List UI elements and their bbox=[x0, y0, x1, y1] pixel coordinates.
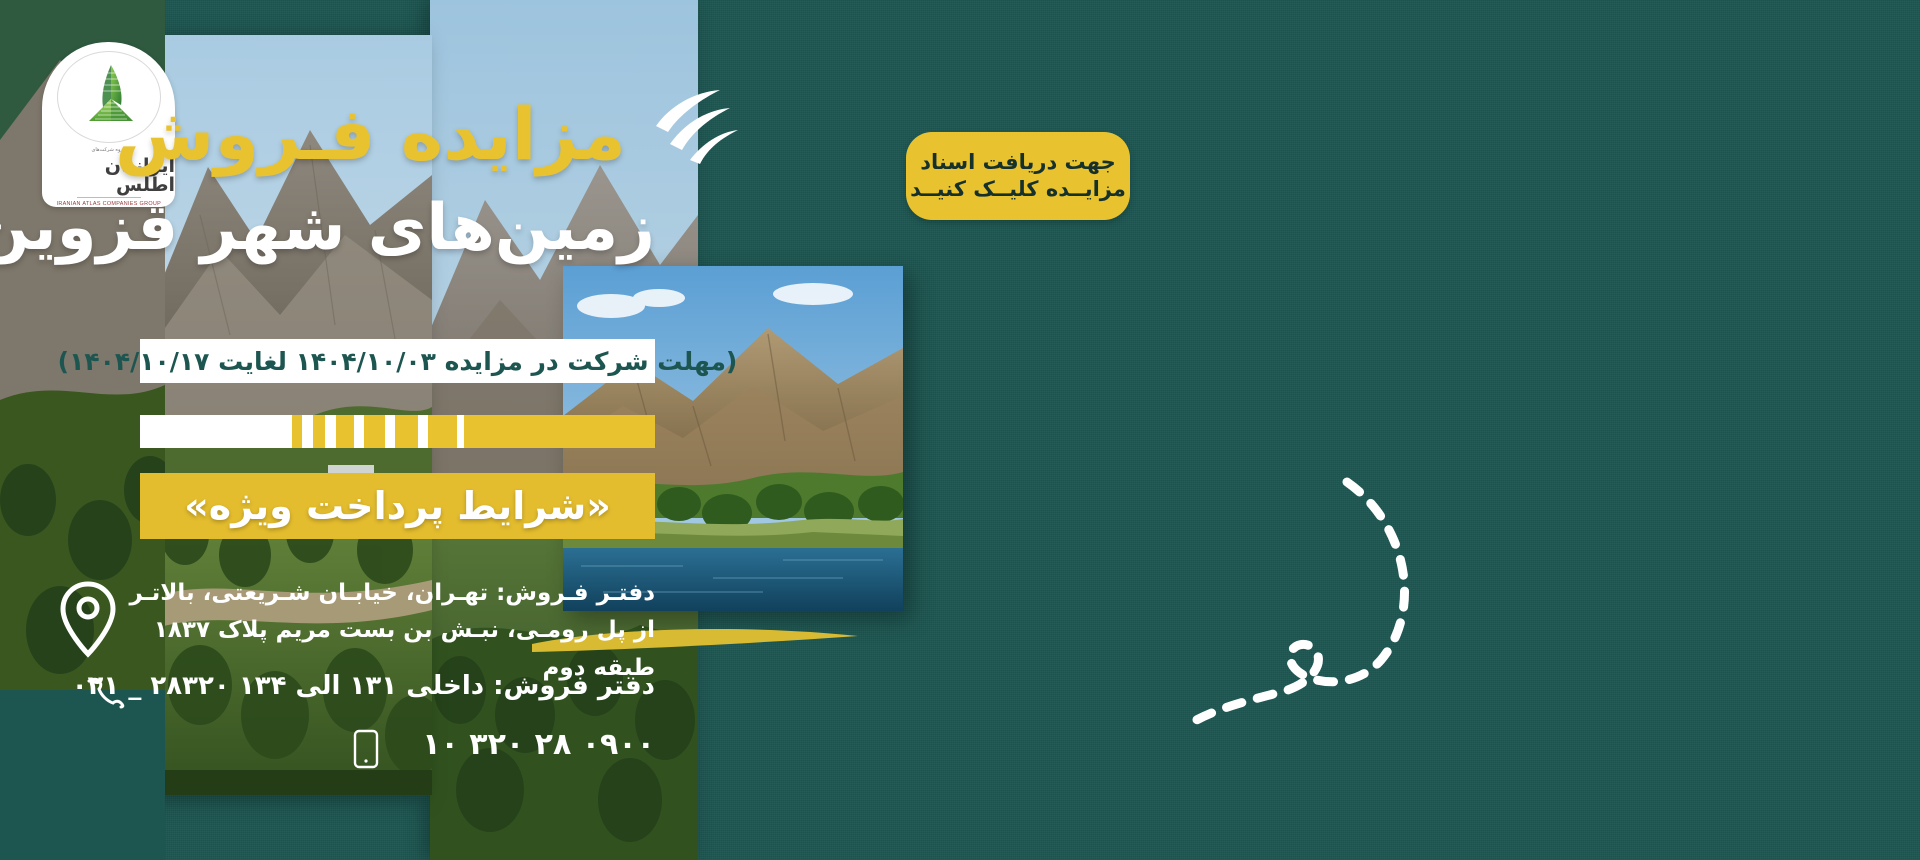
special-payment-terms-button[interactable]: «شرایط پرداخت ویژه» bbox=[140, 473, 655, 539]
progress-segment-1 bbox=[428, 415, 456, 448]
progress-segment-2 bbox=[395, 415, 418, 448]
auction-deadline-strip: (مهلت شرکت در مزایده ۱۴۰۴/۱۰/۰۳ لغایت ۱۴… bbox=[140, 339, 655, 383]
progress-segment-3 bbox=[364, 415, 385, 448]
swoosh-accent-icon bbox=[650, 78, 740, 168]
headline-secondary: زمین‌های شهر قزوین bbox=[115, 196, 655, 260]
location-pin-icon bbox=[57, 579, 119, 659]
sales-office-address: دفتـر فـروش: تهـران، خیابـان شـریعتی، با… bbox=[125, 575, 655, 687]
auction-deadline-text: (مهلت شرکت در مزایده ۱۴۰۴/۱۰/۰۳ لغایت ۱۴… bbox=[58, 347, 738, 376]
progress-segment-0 bbox=[464, 415, 655, 448]
progress-segment-6 bbox=[292, 415, 302, 448]
progress-segment-5 bbox=[313, 415, 326, 448]
sales-office-mobile: ۰۹۰۰ ۲۸ ۳۲۰ ۱۰ bbox=[387, 727, 655, 762]
auction-banner: جهت دریافت اسناد مزایــده کلیــک کنیــد bbox=[0, 0, 1920, 860]
sales-office-telephone: دفتر فروش: داخلی ۱۳۱ الی ۱۳۴ ۲۸۳۲۰ _ ۰۲۱ bbox=[135, 671, 655, 701]
content-column: گروه شرکت‌های ایرانیان اطلس IRANIAN ATLA… bbox=[1020, 0, 1920, 860]
progress-segment-4 bbox=[336, 415, 354, 448]
telephone-handset-icon bbox=[85, 675, 127, 709]
mobile-phone-icon bbox=[353, 729, 379, 769]
headline-primary: مزایده فـروش bbox=[115, 98, 655, 170]
terms-button-label: «شرایط پرداخت ویژه» bbox=[184, 484, 611, 528]
striped-progress-divider bbox=[140, 415, 655, 448]
